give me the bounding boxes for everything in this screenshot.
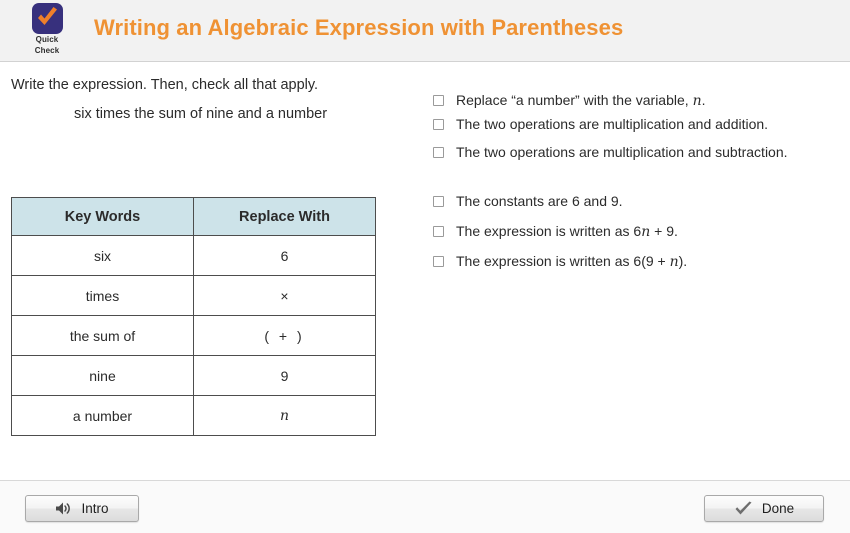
option-label-2: The two operations are multiplication an… <box>456 144 788 162</box>
checkbox-option-4[interactable] <box>433 226 444 237</box>
quick-check-logo: Quick Check <box>24 3 70 56</box>
intro-button[interactable]: Intro <box>25 495 139 522</box>
cell-replace-with: 6 <box>194 236 376 276</box>
done-button[interactable]: Done <box>704 495 824 522</box>
option-row-3[interactable]: The constants are 6 and 9. <box>433 193 833 211</box>
option-text-pre-0: Replace “a number” with the variable, <box>456 92 693 108</box>
option-text-pre-4: The expression is written as 6 <box>456 223 641 239</box>
option-variable-5: n <box>670 254 679 270</box>
column-header-key-words: Key Words <box>12 198 194 236</box>
option-text-pre-1: The two operations are multiplication an… <box>456 116 768 132</box>
option-label-0: Replace “a number” with the variable, n. <box>456 92 705 110</box>
option-label-4: The expression is written as 6n + 9. <box>456 223 678 241</box>
option-text-pre-3: The constants are 6 and 9. <box>456 193 623 209</box>
app-footer: Intro Done <box>0 480 850 533</box>
cell-key-words: times <box>12 276 194 316</box>
logo-label-line1: Quick <box>24 35 70 45</box>
checkbox-option-2[interactable] <box>433 147 444 158</box>
intro-button-label: Intro <box>81 501 108 516</box>
cell-key-words: nine <box>12 356 194 396</box>
cell-replace-with: × <box>194 276 376 316</box>
table-row: the sum of ( + ) <box>12 316 376 356</box>
checkbox-option-5[interactable] <box>433 256 444 267</box>
expression-phrase: six times the sum of nine and a number <box>74 106 327 122</box>
table-row: times × <box>12 276 376 316</box>
option-variable-0: n <box>693 93 702 109</box>
option-variable-4: n <box>641 224 650 240</box>
cell-replace-with: 9 <box>194 356 376 396</box>
logo-label-line2: Check <box>24 46 70 56</box>
option-text-post-0: . <box>702 92 706 108</box>
speaker-icon <box>55 501 72 516</box>
app-header: Quick Check Writing an Algebraic Express… <box>0 0 850 62</box>
checkbox-option-1[interactable] <box>433 119 444 130</box>
key-words-table: Key Words Replace With six 6 times × the… <box>11 197 376 436</box>
checkbox-option-3[interactable] <box>433 196 444 207</box>
option-label-5: The expression is written as 6(9 + n). <box>456 253 687 271</box>
checkbox-option-0[interactable] <box>433 95 444 106</box>
table-row: nine 9 <box>12 356 376 396</box>
page-title: Writing an Algebraic Expression with Par… <box>94 15 623 41</box>
cell-key-words: the sum of <box>12 316 194 356</box>
table-row: six 6 <box>12 236 376 276</box>
option-row-1[interactable]: The two operations are multiplication an… <box>433 116 833 134</box>
cell-key-words: six <box>12 236 194 276</box>
cell-replace-with: n <box>194 396 376 436</box>
option-label-1: The two operations are multiplication an… <box>456 116 768 134</box>
option-row-0[interactable]: Replace “a number” with the variable, n. <box>433 92 833 110</box>
done-button-label: Done <box>762 501 794 516</box>
instruction-text: Write the expression. Then, check all th… <box>11 77 318 93</box>
left-pane: Write the expression. Then, check all th… <box>0 62 420 480</box>
option-row-4[interactable]: The expression is written as 6n + 9. <box>433 223 833 241</box>
option-text-post-5: ). <box>679 253 688 269</box>
column-header-replace-with: Replace With <box>194 198 376 236</box>
checkmark-icon <box>734 501 753 517</box>
option-text-post-4: + 9. <box>650 223 678 239</box>
options-pane: Replace “a number” with the variable, n.… <box>420 62 850 480</box>
table-header-row: Key Words Replace With <box>12 198 376 236</box>
option-row-2[interactable]: The two operations are multiplication an… <box>433 144 833 162</box>
cell-replace-with: ( + ) <box>194 316 376 356</box>
option-row-5[interactable]: The expression is written as 6(9 + n). <box>433 253 833 271</box>
logo-tile <box>32 3 63 34</box>
main-content: Write the expression. Then, check all th… <box>0 62 850 480</box>
option-label-3: The constants are 6 and 9. <box>456 193 623 211</box>
cell-key-words: a number <box>12 396 194 436</box>
option-text-pre-5: The expression is written as 6(9 + <box>456 253 670 269</box>
table-row: a number n <box>12 396 376 436</box>
option-text-pre-2: The two operations are multiplication an… <box>456 144 788 160</box>
